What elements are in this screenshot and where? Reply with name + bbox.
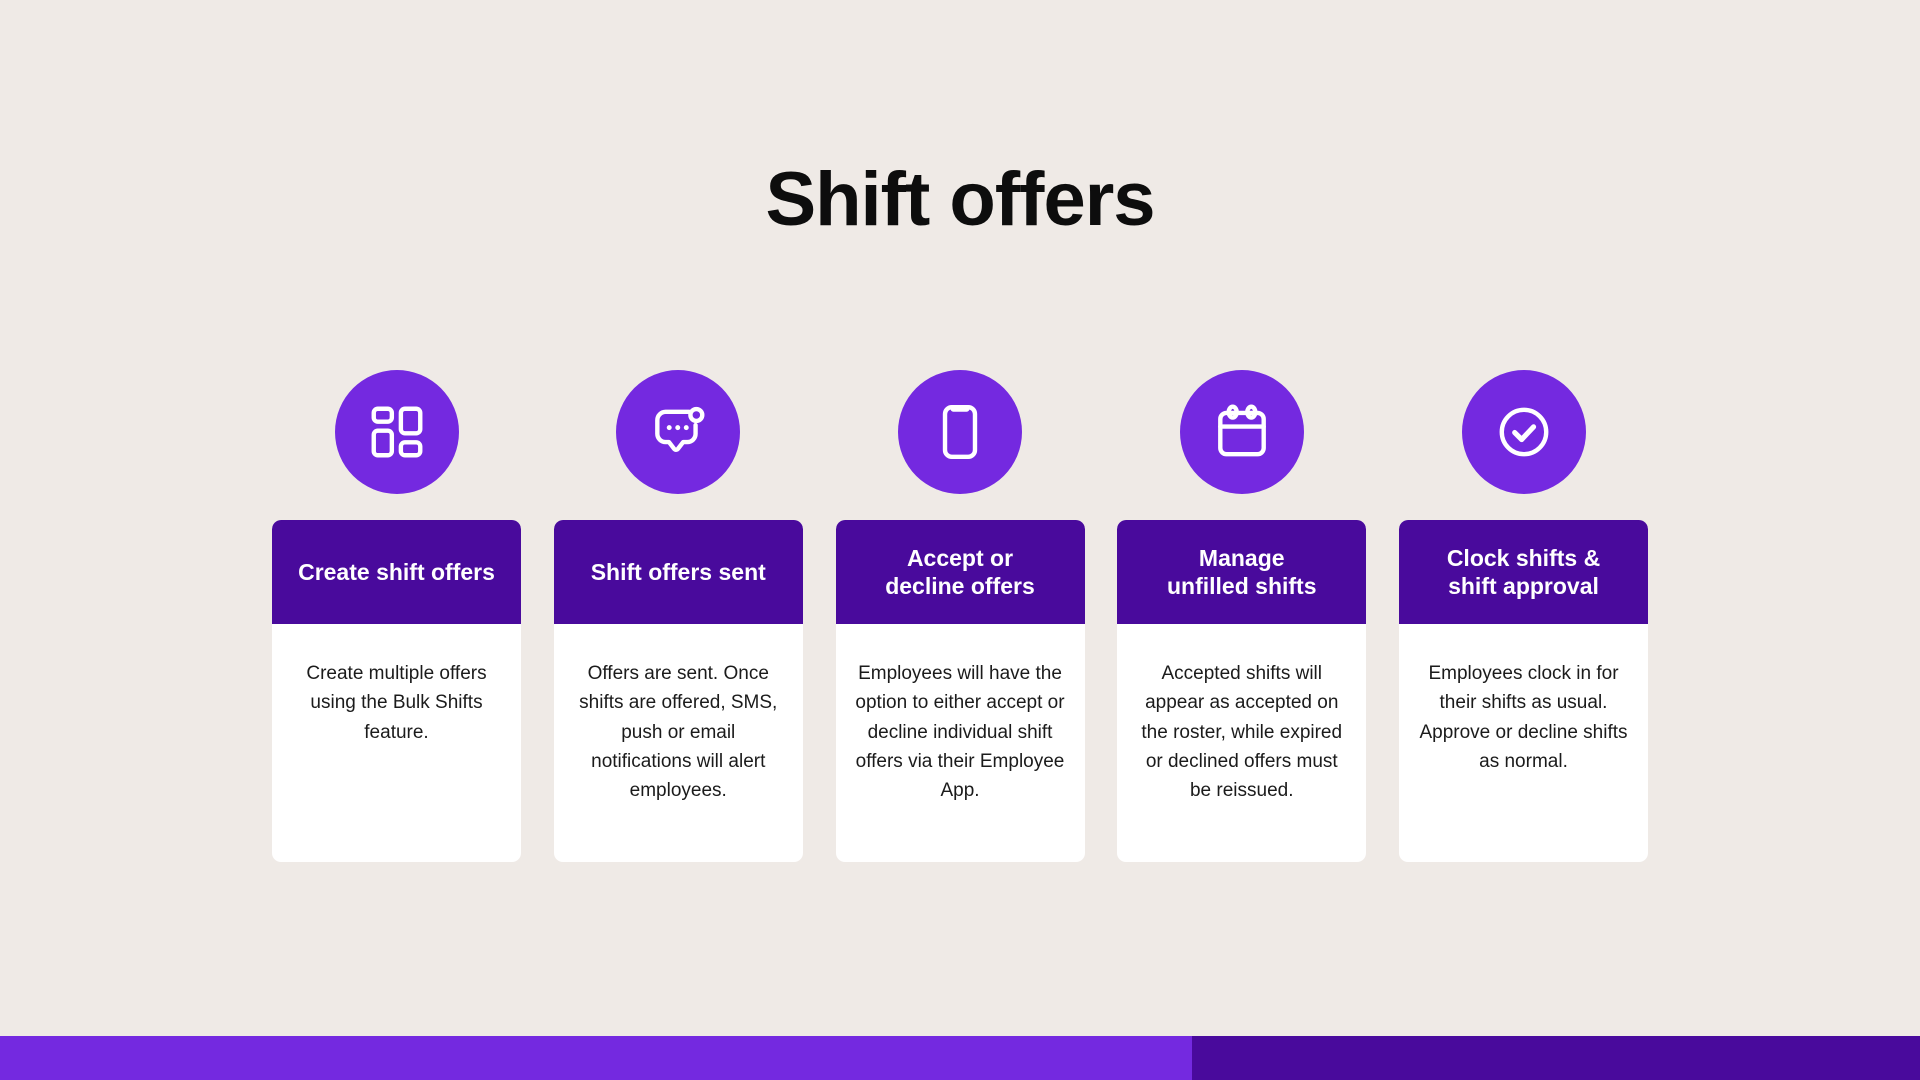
card-column-3: Accept or decline offers Employees will …	[836, 370, 1085, 862]
card-title-line-1: Accept or	[907, 545, 1013, 571]
card-title-wrap: Accept or decline offers	[885, 544, 1035, 600]
icon-badge-1	[335, 370, 459, 494]
card-column-2: Shift offers sent Offers are sent. Once …	[554, 370, 803, 862]
card-title-2: Shift offers sent	[554, 520, 803, 624]
card-title-wrap: Manage unfilled shifts	[1167, 544, 1317, 600]
card-title-line-1: Manage	[1199, 545, 1285, 571]
card-body-4: Accepted shifts will appear as accepted …	[1117, 624, 1366, 862]
page-title: Shift offers	[0, 160, 1920, 240]
card-body-1: Create multiple offers using the Bulk Sh…	[272, 624, 521, 862]
calendar-icon	[1211, 401, 1273, 463]
slide-canvas: Shift offers Create shift offers Create …	[0, 0, 1920, 1080]
card-title-5: Clock shifts & shift approval	[1399, 520, 1648, 624]
card-body-2: Offers are sent. Once shifts are offered…	[554, 624, 803, 862]
icon-badge-5	[1462, 370, 1586, 494]
card-title-line-1: Create shift offers	[298, 558, 495, 586]
feature-card-2: Shift offers sent Offers are sent. Once …	[554, 520, 803, 862]
icon-badge-2	[616, 370, 740, 494]
footer-bar-right-segment	[1192, 1036, 1920, 1080]
card-body-5: Employees clock in for their shifts as u…	[1399, 624, 1648, 862]
footer-color-bar	[0, 1036, 1920, 1080]
card-title-line-1: Clock shifts &	[1447, 545, 1600, 571]
feature-card-1: Create shift offers Create multiple offe…	[272, 520, 521, 862]
icon-badge-4	[1180, 370, 1304, 494]
card-title-4: Manage unfilled shifts	[1117, 520, 1366, 624]
footer-bar-left-segment	[0, 1036, 1192, 1080]
chat-bubble-notification-icon	[647, 401, 709, 463]
card-title-wrap: Clock shifts & shift approval	[1447, 544, 1600, 600]
layout-grid-icon	[366, 401, 428, 463]
check-circle-icon	[1493, 401, 1555, 463]
icon-badge-3	[898, 370, 1022, 494]
feature-card-5: Clock shifts & shift approval Employees …	[1399, 520, 1648, 862]
card-column-4: Manage unfilled shifts Accepted shifts w…	[1117, 370, 1366, 862]
feature-card-3: Accept or decline offers Employees will …	[836, 520, 1085, 862]
mobile-phone-icon	[929, 401, 991, 463]
card-title-line-1: Shift offers sent	[591, 558, 766, 586]
card-title-3: Accept or decline offers	[836, 520, 1085, 624]
card-title-1: Create shift offers	[272, 520, 521, 624]
feature-card-4: Manage unfilled shifts Accepted shifts w…	[1117, 520, 1366, 862]
card-title-line-2: decline offers	[885, 573, 1035, 599]
card-column-1: Create shift offers Create multiple offe…	[272, 370, 521, 862]
card-title-line-2: unfilled shifts	[1167, 573, 1317, 599]
cards-row: Create shift offers Create multiple offe…	[272, 370, 1648, 862]
card-column-5: Clock shifts & shift approval Employees …	[1399, 370, 1648, 862]
card-title-line-2: shift approval	[1448, 573, 1599, 599]
card-body-3: Employees will have the option to either…	[836, 624, 1085, 862]
